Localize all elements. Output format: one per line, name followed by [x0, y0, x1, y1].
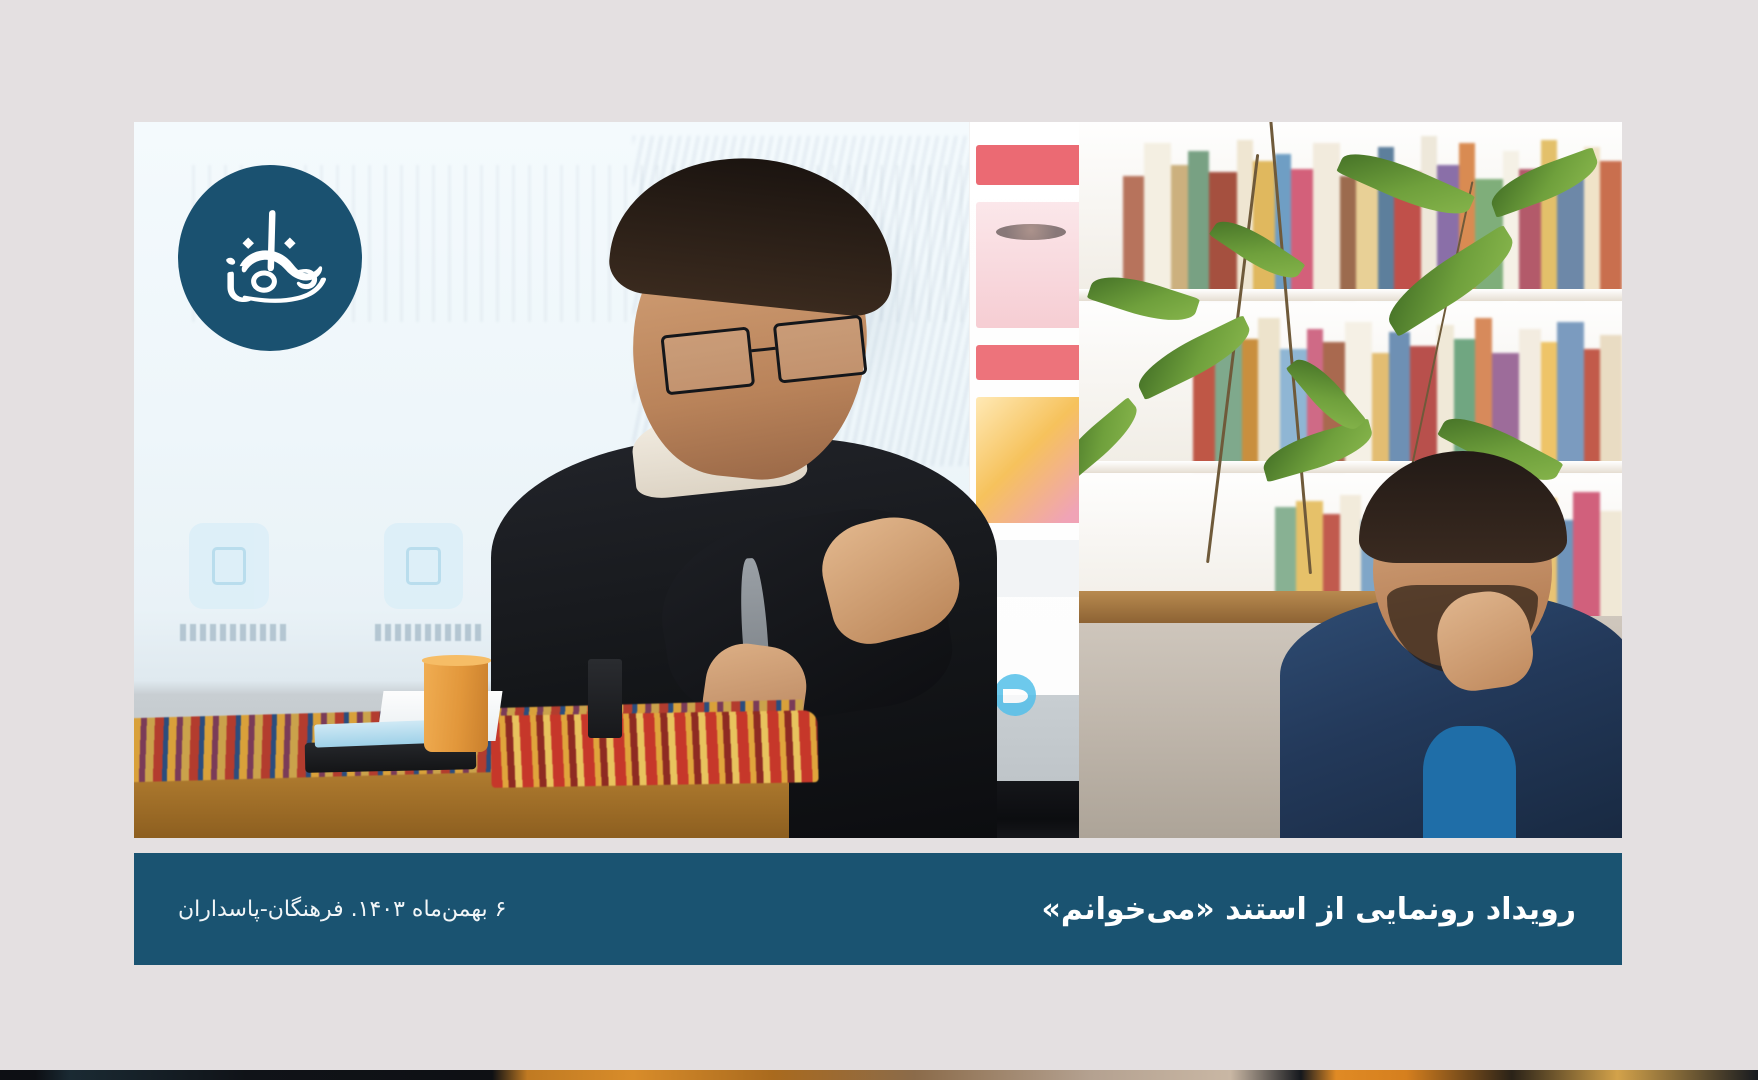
- microphone-stand: [588, 659, 622, 738]
- kilim-cushion: [491, 710, 820, 787]
- event-caption-bar: رویداد رونمایی از استند «می‌خوانم» ۶ بهم…: [134, 853, 1622, 965]
- mikhanam-logo: [178, 165, 362, 351]
- event-title: رویداد رونمایی از استند «می‌خوانم»: [1042, 892, 1577, 927]
- plant-leaf: [1087, 266, 1201, 332]
- plant-leaf: [1485, 147, 1604, 218]
- bookshelf-room: [1079, 122, 1622, 838]
- plant-leaf: [1378, 224, 1525, 337]
- attendee-hair: [1359, 451, 1567, 563]
- tile-glyph-icon: [406, 547, 441, 585]
- attendee-shirt: [1423, 726, 1516, 838]
- twitter-bird-icon: [994, 674, 1036, 716]
- poster-page: 5:41 PM 1/25/2025: [0, 0, 1758, 1080]
- plant-leaf: [1079, 397, 1146, 485]
- slide-tile-caption-2: [375, 624, 481, 641]
- seated-attendee: [1280, 466, 1622, 838]
- slide-tile-caption-1: [180, 624, 286, 641]
- tile-glyph-icon: [212, 547, 247, 585]
- paper-cup: [424, 659, 488, 752]
- slide-tile-1: [189, 523, 268, 609]
- plant-leaf: [1336, 141, 1475, 228]
- cup-rim: [422, 655, 491, 665]
- plant-leaf: [1209, 210, 1305, 288]
- slide-portrait: [996, 224, 1066, 240]
- slide-tile-2: [384, 523, 463, 609]
- glasses-lens-left: [661, 327, 756, 396]
- next-image-sliver: [0, 1070, 1758, 1080]
- event-date-venue: ۶ بهمن‌ماه ۱۴۰۳. فرهنگان-پاسداران: [178, 897, 506, 922]
- plant-leaf: [1130, 315, 1258, 401]
- glasses-lens-right: [773, 315, 868, 384]
- event-photo: 5:41 PM 1/25/2025: [134, 122, 1622, 838]
- glasses-bridge: [751, 347, 775, 353]
